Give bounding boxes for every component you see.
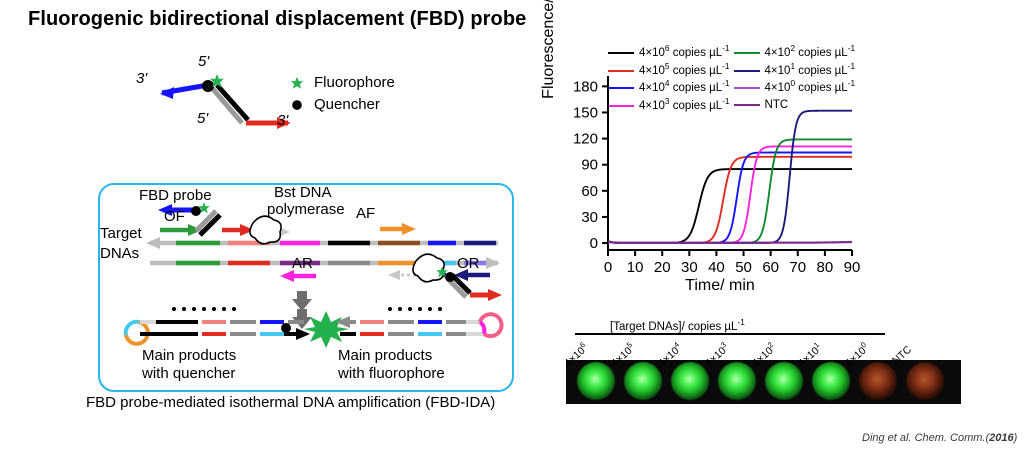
chart-series-line — [608, 139, 852, 243]
citation-year: 2016 — [989, 432, 1013, 444]
fluorophore-label: Fluorophore — [314, 72, 395, 94]
x-tick-label: 0 — [604, 259, 612, 276]
citation-text: Ding et al. Chem. Comm.( — [862, 432, 989, 444]
legend-swatch — [608, 52, 634, 54]
gel-axis-title-text: [Target DNAs]/ copies µL — [610, 321, 737, 333]
page-title: Fluorogenic bidirectional displacement (… — [28, 8, 526, 31]
gel-lane — [577, 362, 615, 400]
y-tick-label: 120 — [573, 131, 598, 148]
x-tick-label: 90 — [844, 259, 860, 276]
y-tick-label: 0 — [590, 235, 598, 252]
x-tick-label: 30 — [681, 259, 698, 276]
label-product-left-line1: Main products — [142, 347, 236, 364]
x-tick-label: 10 — [627, 259, 644, 276]
gel-axis-rule — [575, 333, 885, 335]
label-af: AF — [356, 205, 375, 222]
quencher-icon — [290, 98, 304, 112]
gel-lane — [671, 362, 709, 400]
x-tick-label: 50 — [735, 259, 752, 276]
gel-axis-title-exponent: -1 — [737, 318, 744, 327]
label-ar: AR — [292, 255, 313, 272]
fluorescence-chart: 01020304050607080900306090120150180 — [560, 60, 860, 280]
gel-lane — [718, 362, 756, 400]
gel-axis-title: [Target DNAs]/ copies µL-1 — [610, 318, 745, 333]
label-bst-line2: polymerase — [267, 201, 345, 218]
y-tick-label: 180 — [573, 78, 598, 95]
label-of: OF — [164, 208, 185, 225]
gel-lane — [906, 362, 944, 400]
chart-series-line — [608, 111, 852, 243]
legend-label: 4×102 copies µL-1 — [765, 47, 856, 59]
chart-xlabel: Time/ min — [640, 277, 800, 295]
x-tick-label: 70 — [789, 259, 806, 276]
x-tick-label: 40 — [708, 259, 725, 276]
y-tick-label: 60 — [581, 183, 598, 200]
label-product-right-line2: with fluorophore — [338, 365, 445, 382]
label-product-left-line2: with quencher — [142, 365, 235, 382]
label-target-line2: DNAs — [100, 245, 139, 262]
y-tick-label: 90 — [581, 157, 598, 174]
label-target-line1: Target — [100, 225, 142, 242]
citation-close: ) — [1014, 432, 1018, 444]
label-fbd-probe: FBD probe — [139, 187, 212, 204]
chart-ylabel: Fluorescence/ a.u. — [540, 0, 558, 108]
chart-series-line — [608, 153, 852, 244]
chart-series-line — [608, 242, 852, 243]
diagram-caption: FBD probe-mediated isothermal DNA amplif… — [86, 394, 495, 411]
gel-lane — [812, 362, 850, 400]
probe-legend-item-fluorophore: Fluorophore — [290, 72, 395, 94]
x-tick-label: 80 — [817, 259, 834, 276]
fluorophore-icon — [290, 76, 304, 90]
gel-lane — [859, 362, 897, 400]
y-tick-label: 30 — [581, 209, 598, 226]
probe-legend: Fluorophore Quencher — [290, 72, 395, 116]
legend-label: 4×106 copies µL-1 — [639, 47, 730, 59]
gel-lane — [624, 362, 662, 400]
gel-strip — [566, 360, 961, 404]
probe-label-3prime-left: 3' — [136, 70, 147, 87]
chart-series-line — [608, 146, 852, 243]
x-tick-label: 20 — [654, 259, 671, 276]
probe-label-5prime-top: 5' — [198, 53, 209, 70]
gel-lane — [765, 362, 803, 400]
citation: Ding et al. Chem. Comm.(2016) — [862, 432, 1017, 444]
label-bst-line1: Bst DNA — [274, 184, 332, 201]
probe-legend-item-quencher: Quencher — [290, 94, 395, 116]
probe-label-5prime-bottom: 5' — [197, 110, 208, 127]
label-or: OR — [457, 255, 480, 272]
x-tick-label: 60 — [762, 259, 779, 276]
label-product-right-line1: Main products — [338, 347, 432, 364]
y-tick-label: 150 — [573, 104, 598, 121]
probe-label-3prime-right: 3' — [277, 112, 288, 129]
quencher-label: Quencher — [314, 94, 380, 116]
legend-swatch — [734, 52, 760, 54]
